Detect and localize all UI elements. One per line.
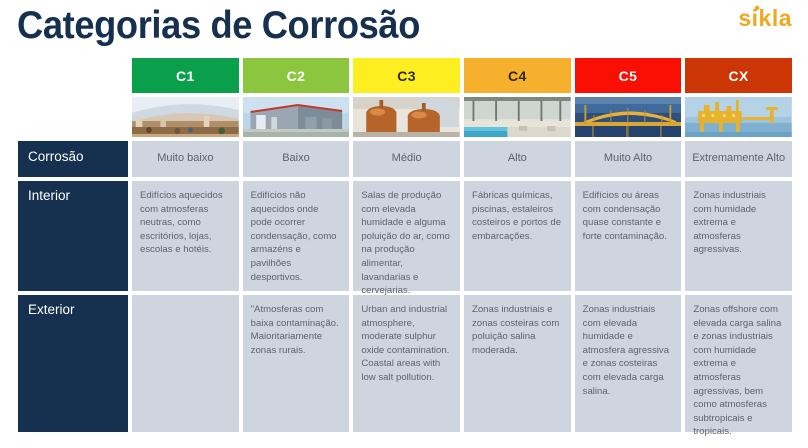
row-label-interior: Interior [18,181,128,291]
level-cell-4: Muito Alto [575,141,682,177]
page-title: Categorias de Corrosão [17,6,420,47]
offshore-oil-platform-photo [685,97,792,137]
interior-cell-0: Edifícios aquecidos com atmosferas neutr… [132,181,239,291]
interior-cell-5: Zonas industriais com humidade extrema e… [685,181,792,291]
category-header-2: C3 [353,58,460,93]
interior-cell-1: Edifícios não aquecidos onde pode ocorre… [243,181,350,291]
shopping-mall-interior-photo [132,97,239,137]
exterior-cell-4: Zonas industriais com elevada humidade e… [575,295,682,432]
category-code-1: C2 [287,68,306,84]
brand-name: sikla [738,5,792,31]
exterior-cell-2: Urban and industrial atmosphere, moderat… [353,295,460,432]
interior-cell-3: Fábricas químicas, piscinas, estaleiros … [464,181,571,291]
grid-corner-blank-top [18,58,128,93]
category-code-2: C3 [397,68,416,84]
level-cell-5: Extremamente Alto [685,141,792,177]
swimming-pool-photo [464,97,571,137]
grid-corner-blank-photos [18,97,128,137]
exterior-cell-0 [132,295,239,432]
level-cell-3: Alto [464,141,571,177]
bridge-at-dusk-photo [575,97,682,137]
row-label-corrosao: Corrosão [18,141,128,177]
sikla-logo: sikla [738,7,792,30]
level-cell-2: Médio [353,141,460,177]
category-header-3: C4 [464,58,571,93]
interior-cell-2: Salas de produção com elevada humidade e… [353,181,460,291]
category-header-5: CX [685,58,792,93]
level-cell-0: Muito baixo [132,141,239,177]
category-header-1: C2 [243,58,350,93]
row-label-exterior: Exterior [18,295,128,432]
category-code-0: C1 [176,68,195,84]
corrosion-categories-table: C1 C2 C3 C4 C5 CX [18,58,792,432]
category-header-0: C1 [132,58,239,93]
exterior-cell-3: Zonas industriais e zonas costeiras com … [464,295,571,432]
category-header-4: C5 [575,58,682,93]
interior-cell-4: Edifícios ou áreas com condensação quase… [575,181,682,291]
category-code-3: C4 [508,68,527,84]
category-code-4: C5 [619,68,638,84]
exterior-cell-5: Zonas offshore com elevada carga salina … [685,295,792,432]
brewery-copper-tanks-photo [353,97,460,137]
level-cell-1: Baixo [243,141,350,177]
industrial-warehouse-photo [243,97,350,137]
exterior-cell-1: "Atmosferas com baixa contaminação. Maio… [243,295,350,432]
category-code-5: CX [729,68,749,84]
